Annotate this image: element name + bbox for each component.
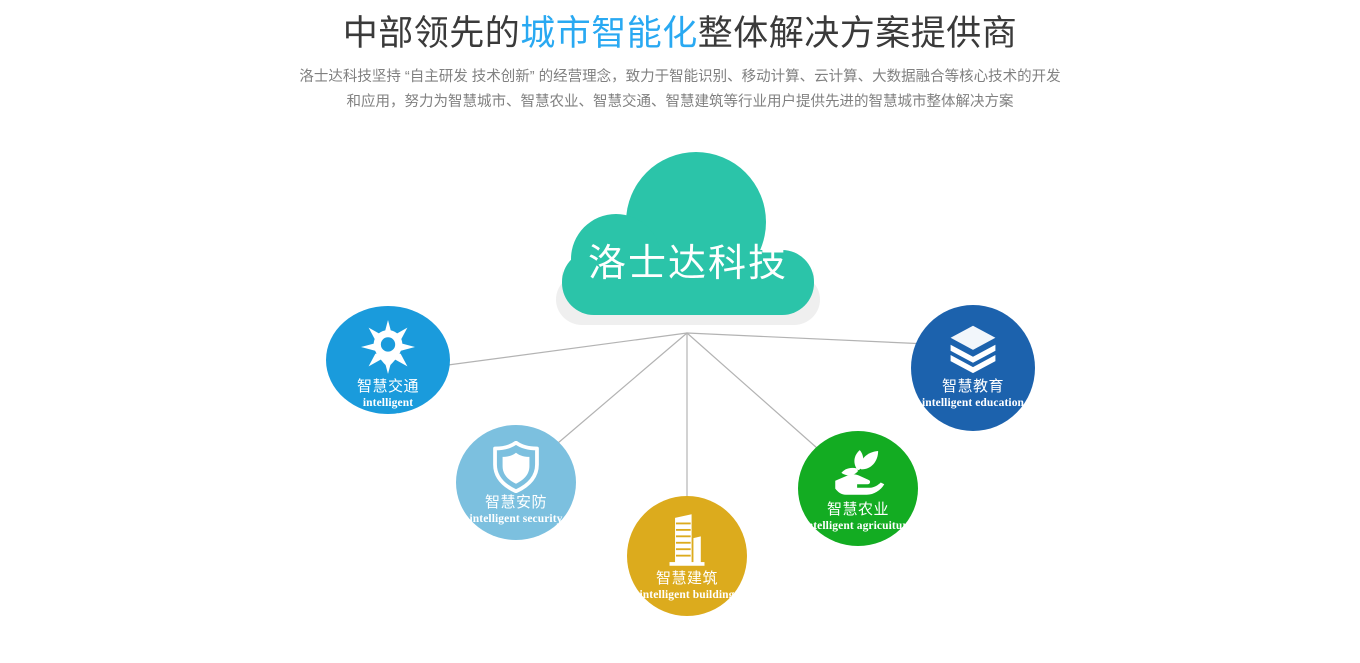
node-intelligent-agriculture[interactable]: 智慧农业 intelligent agricuiture bbox=[798, 431, 918, 546]
node-label-en: intelligent education bbox=[911, 396, 1035, 410]
node-label-cn: 智慧建筑 bbox=[627, 570, 747, 588]
node-label-en: intelligent agricuiture bbox=[798, 519, 918, 533]
node-label-cn: 智慧教育 bbox=[911, 378, 1035, 396]
connector-to-transportation bbox=[448, 333, 687, 365]
node-label-transportation: 智慧交通 intelligent transportation bbox=[326, 378, 450, 424]
node-label-building: 智慧建筑 intelligent building bbox=[627, 570, 747, 602]
node-label-security: 智慧安防 intelligent security bbox=[456, 494, 576, 526]
connector-to-education bbox=[687, 333, 928, 344]
solution-hub-diagram: 洛士达科技 智 bbox=[0, 0, 1360, 663]
node-label-cn: 智慧交通 bbox=[326, 378, 450, 396]
node-label-agriculture: 智慧农业 intelligent agricuiture bbox=[798, 501, 918, 533]
node-intelligent-transportation[interactable]: 智慧交通 intelligent transportation bbox=[326, 306, 450, 414]
cloud-icon bbox=[548, 146, 828, 332]
shield-icon bbox=[456, 441, 576, 493]
node-label-en: intelligent transportation bbox=[326, 396, 450, 424]
node-label-education: 智慧教育 intelligent education bbox=[911, 378, 1035, 410]
stacked-books-icon bbox=[911, 323, 1035, 375]
hand-sprout-icon bbox=[798, 445, 918, 499]
node-label-en: intelligent building bbox=[627, 588, 747, 602]
node-intelligent-building[interactable]: 智慧建筑 intelligent building bbox=[627, 496, 747, 616]
connector-to-security bbox=[558, 333, 687, 443]
connector-to-agriculture bbox=[687, 333, 817, 448]
node-label-cn: 智慧农业 bbox=[798, 501, 918, 519]
node-label-cn: 智慧安防 bbox=[456, 494, 576, 512]
hub-cloud[interactable]: 洛士达科技 bbox=[548, 146, 828, 332]
node-intelligent-education[interactable]: 智慧教育 intelligent education bbox=[911, 305, 1035, 431]
compass-location-pin-icon bbox=[326, 320, 450, 374]
skyscraper-icon bbox=[627, 512, 747, 568]
node-intelligent-security[interactable]: 智慧安防 intelligent security bbox=[456, 425, 576, 540]
node-label-en: intelligent security bbox=[456, 512, 576, 526]
